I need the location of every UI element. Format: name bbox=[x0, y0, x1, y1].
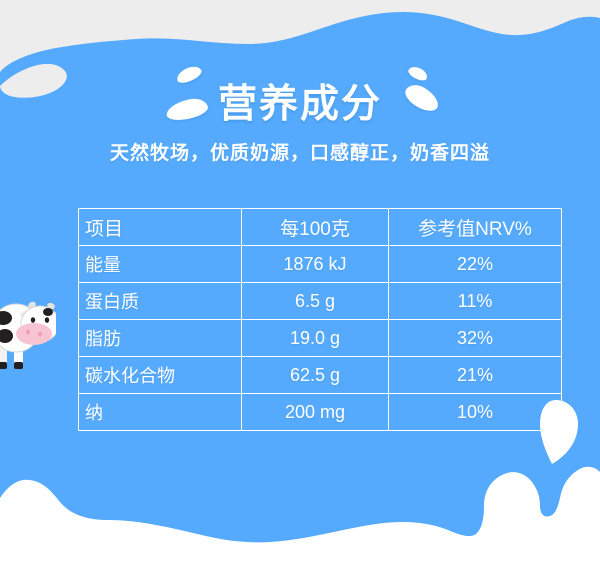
subtitle-area: 天然牧场，优质奶源，口感醇正，奶香四溢 bbox=[0, 140, 600, 168]
nutrition-table: 项目 每100克 参考值NRV% 能量 1876 kJ 22% 蛋白质 6.5 … bbox=[78, 208, 562, 431]
nutrient-nrv: 11% bbox=[389, 283, 562, 320]
page-title: 营养成分 bbox=[218, 82, 382, 128]
nutrient-amount: 6.5 g bbox=[242, 283, 389, 320]
nutrient-nrv: 10% bbox=[389, 394, 562, 431]
table-header-item: 项目 bbox=[79, 209, 242, 246]
nutrient-nrv: 21% bbox=[389, 357, 562, 394]
page-subtitle: 天然牧场，优质奶源，口感醇正，奶香四溢 bbox=[110, 140, 490, 168]
cow-eye bbox=[45, 317, 49, 323]
cow-illustration bbox=[0, 276, 56, 372]
nutrient-name: 蛋白质 bbox=[79, 283, 242, 320]
table-header-row: 项目 每100克 参考值NRV% bbox=[79, 209, 562, 246]
table-row: 能量 1876 kJ 22% bbox=[79, 246, 562, 283]
nutrient-amount: 62.5 g bbox=[242, 357, 389, 394]
cow-nostril bbox=[38, 331, 42, 336]
nutrient-amount: 1876 kJ bbox=[242, 246, 389, 283]
nutrition-banner: 营养成分 天然牧场，优质奶源，口感醇正，奶香四溢 项目 每100克 参考值NRV… bbox=[0, 0, 600, 570]
nutrient-name: 脂肪 bbox=[79, 320, 242, 357]
title-area: 营养成分 bbox=[0, 82, 600, 128]
nutrient-name: 纳 bbox=[79, 394, 242, 431]
nutrient-amount: 200 mg bbox=[242, 394, 389, 431]
nutrient-name: 能量 bbox=[79, 246, 242, 283]
table-header-per100g: 每100克 bbox=[242, 209, 389, 246]
nutrient-nrv: 32% bbox=[389, 320, 562, 357]
table-row: 碳水化合物 62.5 g 21% bbox=[79, 357, 562, 394]
table-row: 脂肪 19.0 g 32% bbox=[79, 320, 562, 357]
cow-head-spot bbox=[43, 308, 53, 316]
nutrient-nrv: 22% bbox=[389, 246, 562, 283]
table-row: 纳 200 mg 10% bbox=[79, 394, 562, 431]
nutrition-table-container: 项目 每100克 参考值NRV% 能量 1876 kJ 22% 蛋白质 6.5 … bbox=[78, 208, 522, 431]
cow-nostril bbox=[26, 329, 30, 334]
table-header-nrv: 参考值NRV% bbox=[389, 209, 562, 246]
nutrient-name: 碳水化合物 bbox=[79, 357, 242, 394]
cow-eye bbox=[31, 317, 35, 323]
cow-muzzle bbox=[16, 323, 52, 345]
table-row: 蛋白质 6.5 g 11% bbox=[79, 283, 562, 320]
milk-droplet-icon bbox=[407, 64, 430, 83]
nutrient-amount: 19.0 g bbox=[242, 320, 389, 357]
